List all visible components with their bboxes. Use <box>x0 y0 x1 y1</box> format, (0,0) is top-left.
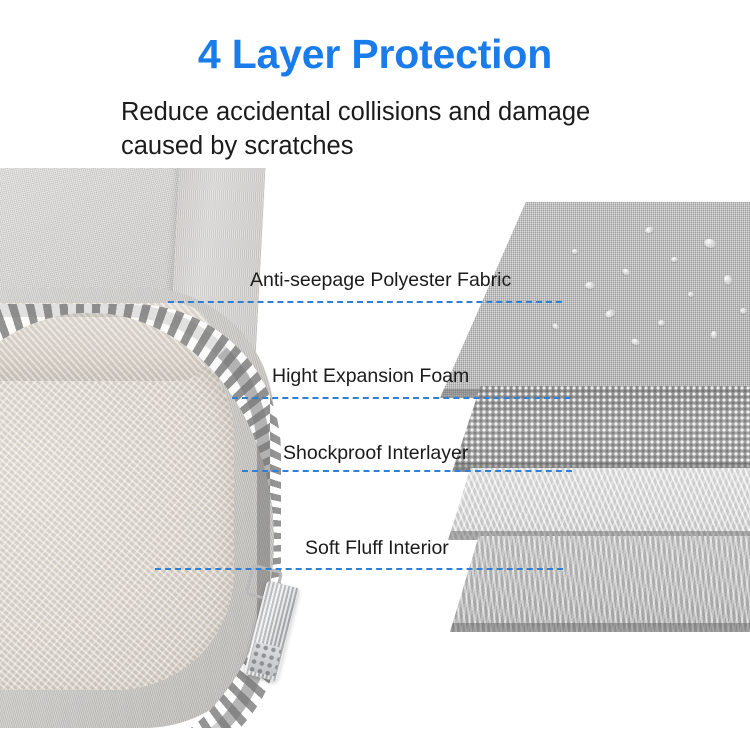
water-bead-icon <box>688 292 694 297</box>
swatch-layer-3-shockproof-interlayer <box>448 468 750 540</box>
callout-label-layer-3: Shockproof Interlayer <box>283 444 468 464</box>
water-bead-icon <box>671 257 678 262</box>
callout-label-layer-1: Anti-seepage Polyester Fabric <box>250 271 511 291</box>
water-bead-icon <box>572 249 578 254</box>
callout-label-layer-2: Hight Expansion Foam <box>272 367 469 387</box>
page-title: 4 Layer Protection <box>0 33 750 76</box>
water-bead-icon <box>711 331 717 339</box>
leader-line-layer-1 <box>168 301 562 303</box>
page-subtitle: Reduce accidental collisions and damage … <box>121 96 681 163</box>
callout-label-layer-4: Soft Fluff Interior <box>305 539 449 559</box>
swatch-face-felt <box>448 468 750 540</box>
swatch-edge <box>450 623 750 632</box>
water-bead-icon <box>658 320 665 326</box>
leader-line-layer-3 <box>242 470 572 472</box>
zipper-tape <box>0 304 270 728</box>
leader-line-layer-2 <box>232 397 570 399</box>
infographic-canvas: 4 Layer Protection Reduce accidental col… <box>0 0 750 750</box>
swatch-face-woven <box>440 202 750 398</box>
swatch-layer-1-polyester-fabric <box>440 202 750 398</box>
leader-line-layer-4 <box>155 568 563 570</box>
subtitle-line-2: caused by scratches <box>121 130 681 164</box>
subtitle-line-1: Reduce accidental collisions and damage <box>121 96 681 130</box>
swatch-face-fluff <box>450 536 750 632</box>
material-layer-stack <box>430 180 750 640</box>
swatch-layer-4-soft-fluff <box>450 536 750 632</box>
